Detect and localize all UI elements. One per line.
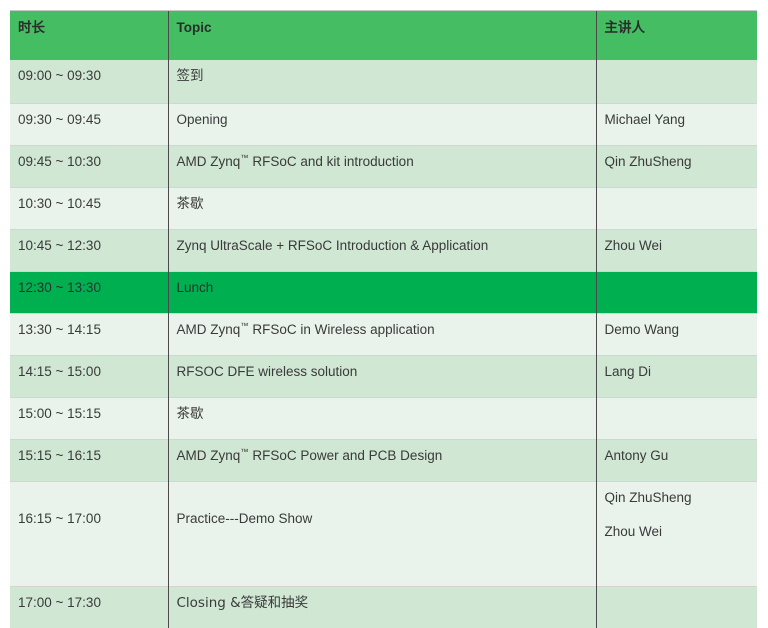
cell-speaker xyxy=(596,188,757,230)
cell-time: 12:30 ~ 13:30 xyxy=(10,272,168,314)
trademark-icon: ™ xyxy=(240,321,248,331)
cell-time: 17:00 ~ 17:30 xyxy=(10,587,168,628)
table-header-row: 时长 Topic 主讲人 xyxy=(10,11,757,61)
topic-text-prefix: AMD Zynq xyxy=(177,448,241,463)
topic-text-suffix: RFSoC Power and PCB Design xyxy=(249,448,443,463)
agenda-table-body: 09:00 ~ 09:30 签到 09:30 ~ 09:45 Opening M… xyxy=(10,60,757,628)
cell-topic: 茶歇 xyxy=(168,188,596,230)
cell-speaker xyxy=(596,272,757,314)
cell-speaker xyxy=(596,587,757,628)
cell-topic: AMD Zynq™ RFSoC and kit introduction xyxy=(168,146,596,188)
agenda-table: 时长 Topic 主讲人 09:00 ~ 09:30 签到 09:30 ~ 09… xyxy=(10,10,757,628)
cell-time: 14:15 ~ 15:00 xyxy=(10,356,168,398)
speaker-name: Zhou Wei xyxy=(605,523,758,541)
trademark-icon: ™ xyxy=(240,153,248,163)
topic-text-prefix: AMD Zynq xyxy=(177,322,241,337)
cell-speaker: Demo Wang xyxy=(596,314,757,356)
table-row: 09:30 ~ 09:45 Opening Michael Yang xyxy=(10,104,757,146)
cell-time: 10:45 ~ 12:30 xyxy=(10,230,168,272)
cell-topic: Practice---Demo Show xyxy=(168,482,596,587)
cell-speaker: Qin ZhuSheng Zhou Wei xyxy=(596,482,757,587)
cell-time: 09:45 ~ 10:30 xyxy=(10,146,168,188)
table-row: 14:15 ~ 15:00 RFSOC DFE wireless solutio… xyxy=(10,356,757,398)
cell-topic: RFSOC DFE wireless solution xyxy=(168,356,596,398)
table-row: 09:00 ~ 09:30 签到 xyxy=(10,60,757,104)
table-row-highlighted: 12:30 ~ 13:30 Lunch xyxy=(10,272,757,314)
agenda-table-container: 时长 Topic 主讲人 09:00 ~ 09:30 签到 09:30 ~ 09… xyxy=(10,10,757,628)
table-row: 16:15 ~ 17:00 Practice---Demo Show Qin Z… xyxy=(10,482,757,587)
trademark-icon: ™ xyxy=(240,447,248,457)
cell-speaker xyxy=(596,398,757,440)
cell-topic: 签到 xyxy=(168,60,596,104)
table-row: 15:15 ~ 16:15 AMD Zynq™ RFSoC Power and … xyxy=(10,440,757,482)
cell-topic: Zynq UltraScale + RFSoC Introduction & A… xyxy=(168,230,596,272)
cell-time: 15:15 ~ 16:15 xyxy=(10,440,168,482)
cell-speaker: Antony Gu xyxy=(596,440,757,482)
column-header-time: 时长 xyxy=(10,11,168,61)
cell-speaker xyxy=(596,60,757,104)
topic-text-suffix: RFSoC and kit introduction xyxy=(249,154,414,169)
cell-time: 09:00 ~ 09:30 xyxy=(10,60,168,104)
table-row: 09:45 ~ 10:30 AMD Zynq™ RFSoC and kit in… xyxy=(10,146,757,188)
cell-speaker: Zhou Wei xyxy=(596,230,757,272)
cell-topic: AMD Zynq™ RFSoC Power and PCB Design xyxy=(168,440,596,482)
cell-time: 16:15 ~ 17:00 xyxy=(10,482,168,587)
cell-topic: Closing &答疑和抽奖 xyxy=(168,587,596,628)
cell-time: 15:00 ~ 15:15 xyxy=(10,398,168,440)
cell-speaker: Michael Yang xyxy=(596,104,757,146)
table-row: 17:00 ~ 17:30 Closing &答疑和抽奖 xyxy=(10,587,757,628)
cell-topic: 茶歇 xyxy=(168,398,596,440)
column-header-speaker: 主讲人 xyxy=(596,11,757,61)
cell-time: 13:30 ~ 14:15 xyxy=(10,314,168,356)
speaker-name: Qin ZhuSheng xyxy=(605,489,758,507)
column-header-topic: Topic xyxy=(168,11,596,61)
topic-text-suffix: RFSoC in Wireless application xyxy=(249,322,435,337)
table-row: 10:30 ~ 10:45 茶歇 xyxy=(10,188,757,230)
table-row: 10:45 ~ 12:30 Zynq UltraScale + RFSoC In… xyxy=(10,230,757,272)
cell-speaker: Lang Di xyxy=(596,356,757,398)
cell-topic: Opening xyxy=(168,104,596,146)
table-row: 15:00 ~ 15:15 茶歇 xyxy=(10,398,757,440)
cell-time: 10:30 ~ 10:45 xyxy=(10,188,168,230)
topic-text-prefix: AMD Zynq xyxy=(177,154,241,169)
cell-topic: AMD Zynq™ RFSoC in Wireless application xyxy=(168,314,596,356)
cell-time: 09:30 ~ 09:45 xyxy=(10,104,168,146)
cell-topic: Lunch xyxy=(168,272,596,314)
cell-speaker: Qin ZhuSheng xyxy=(596,146,757,188)
table-row: 13:30 ~ 14:15 AMD Zynq™ RFSoC in Wireles… xyxy=(10,314,757,356)
